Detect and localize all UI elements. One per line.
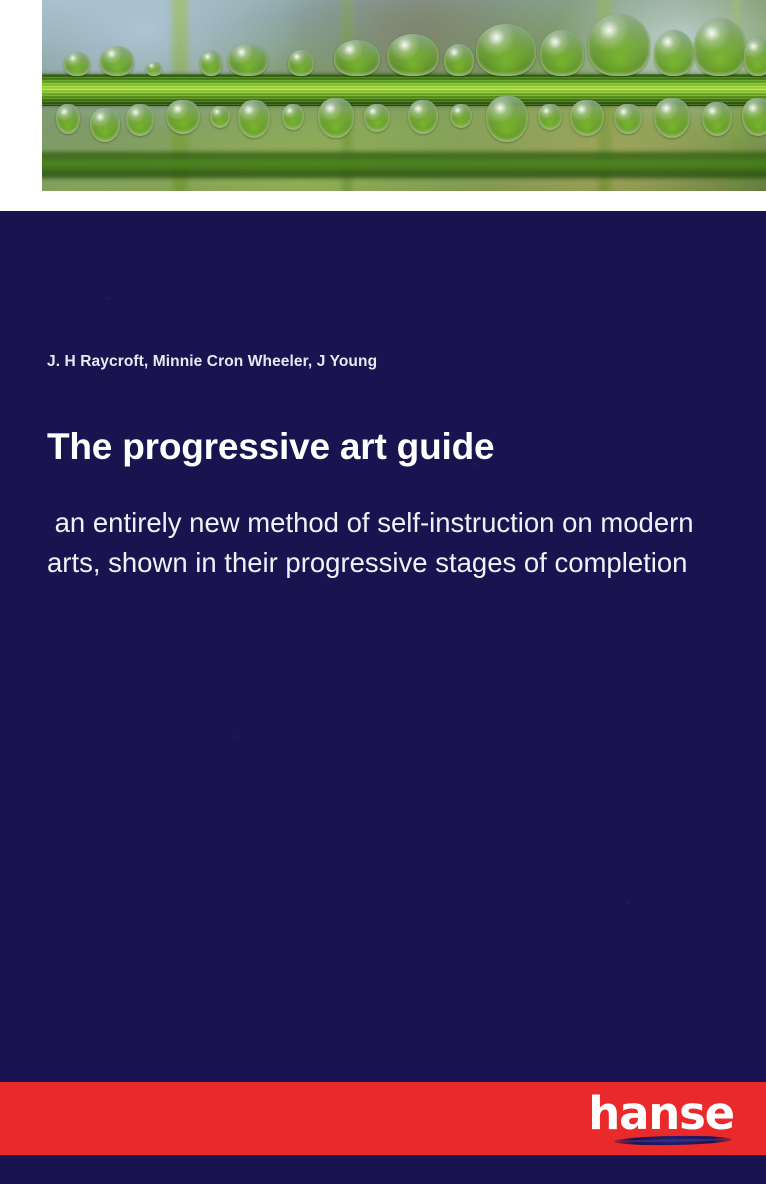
water-droplet [450,104,472,128]
book-title: The progressive art guide [47,424,737,470]
book-subtitle: an entirely new method of self-instructi… [47,503,719,583]
book-cover: J. H Raycroft, Minnie Cron Wheeler, J Yo… [0,0,766,1184]
water-droplet [100,46,134,76]
water-droplet [540,30,584,76]
water-droplet [694,18,746,76]
water-droplet [742,98,766,136]
water-droplet [538,104,562,130]
water-droplet [146,62,162,76]
water-droplet [486,96,528,142]
water-droplet [228,44,268,76]
water-droplet [238,100,270,138]
water-droplet [614,104,642,134]
water-droplet [200,50,222,76]
publisher-band: hanse [0,1082,766,1155]
water-droplet [90,108,120,142]
water-droplet [476,24,536,76]
water-droplet [288,50,314,76]
water-droplet [588,14,650,76]
water-droplet [702,102,732,136]
water-droplet [126,104,154,136]
hanse-logo-wordmark: hanse [588,1090,734,1138]
water-droplet [654,30,694,76]
water-droplet [364,104,390,132]
author-line: J. H Raycroft, Minnie Cron Wheeler, J Yo… [47,352,727,372]
water-droplet [166,100,200,134]
water-droplet [64,52,90,76]
hanse-logo: hanse [608,1090,734,1148]
water-droplet [570,100,604,136]
water-droplet [210,106,230,128]
water-droplet [334,40,380,76]
water-droplet [408,100,438,134]
water-droplet [282,104,304,130]
cover-photo [42,0,766,191]
water-droplet [318,98,354,138]
water-droplet [444,44,474,76]
water-droplet [56,104,80,134]
water-droplet [744,36,766,76]
photo-background [42,0,766,191]
background-grass-blade [42,152,766,178]
grass-blade [42,74,766,106]
water-droplet [387,34,439,76]
water-droplet [654,98,690,138]
